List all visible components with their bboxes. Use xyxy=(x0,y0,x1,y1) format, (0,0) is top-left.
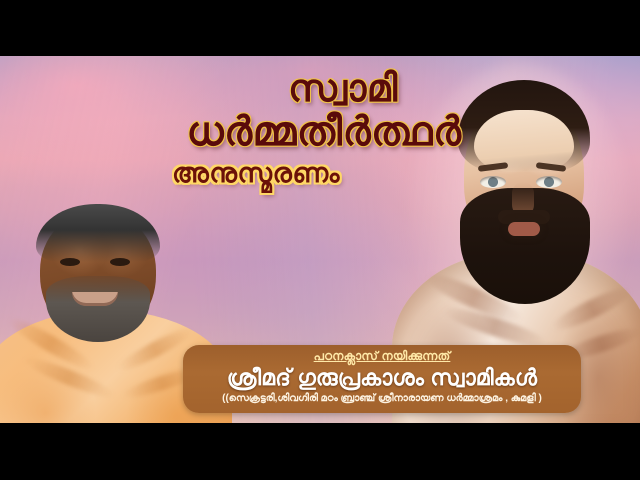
video-frame: സ്വാമി ധർമ്മതീർത്ഥർ അനുസ്മരണം പഠനക്ലാസ് … xyxy=(0,0,640,480)
headline-line-2: ധർമ്മതീർത്ഥർ xyxy=(0,112,640,154)
letterbox-bar-bottom xyxy=(0,423,640,480)
poster-headline: സ്വാമി ധർമ്മതീർത്ഥർ അനുസ്മരണം xyxy=(0,70,640,187)
speaker-smile xyxy=(72,292,118,306)
credit-speaker-designation: ((സെക്രട്ടരി,ശിവഗിരി മഠം ബ്രാഞ്ച് ശ്രീനാ… xyxy=(183,392,581,406)
portrait-mouth xyxy=(508,222,540,236)
speaker-credit-banner: പഠനക്ലാസ് നയിക്കുന്നത് ശ്രീമദ് ഗുരുപ്രകാ… xyxy=(183,345,581,413)
headline-line-3: അനുസ്മരണം xyxy=(0,159,640,187)
speaker-eye-right xyxy=(110,258,130,266)
poster-artwork: സ്വാമി ധർമ്മതീർത്ഥർ അനുസ്മരണം പഠനക്ലാസ് … xyxy=(0,56,640,423)
speaker-hair xyxy=(36,204,160,262)
headline-line-1: സ്വാമി xyxy=(0,70,640,110)
credit-eyebrow-label: പഠനക്ലാസ് നയിക്കുന്നത് xyxy=(183,348,581,364)
credit-speaker-name: ശ്രീമദ് ഗുരുപ്രകാശം സ്വാമികൾ xyxy=(183,364,581,392)
speaker-eye-left xyxy=(60,258,80,266)
letterbox-bar-top xyxy=(0,0,640,56)
